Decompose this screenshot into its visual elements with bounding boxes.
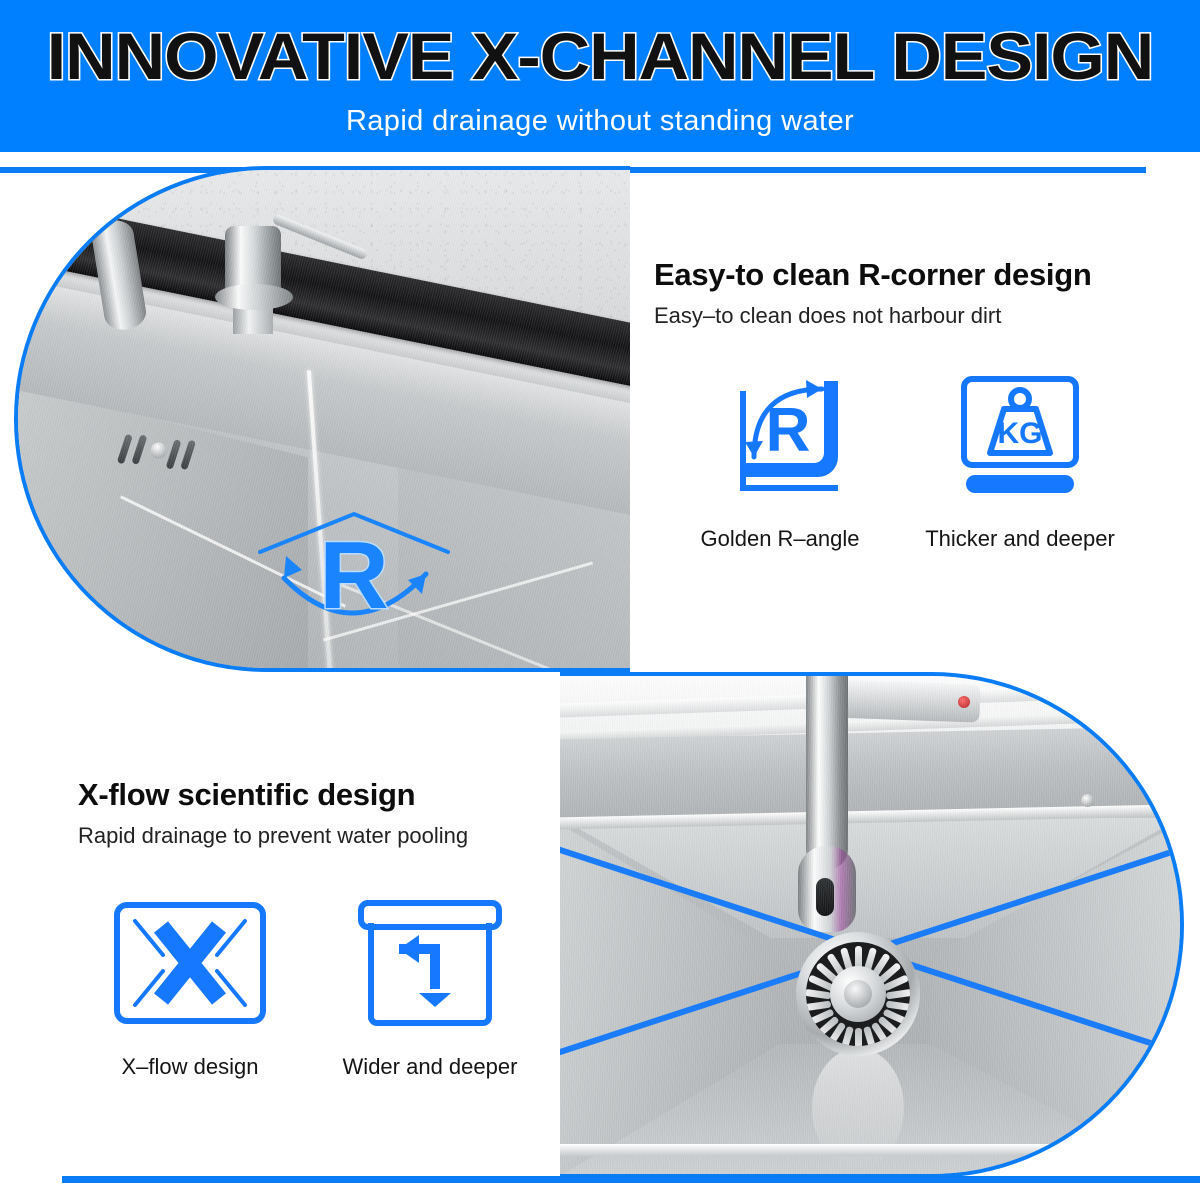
feature-x-flow-design: X–flow design xyxy=(70,888,310,1080)
kg-weight-icon: KG xyxy=(950,360,1090,510)
x-channel-lines-icon xyxy=(560,676,1180,1174)
drain-slot xyxy=(806,989,831,1000)
r-corner-text-block: Easy-to clean R-corner design Easy–to cl… xyxy=(654,255,1194,331)
feature-wider-deeper: Wider and deeper xyxy=(310,888,550,1080)
r-letter: R xyxy=(319,522,388,629)
feature-caption: Thicker and deeper xyxy=(925,526,1115,552)
page-subtitle: Rapid drainage without standing water xyxy=(0,104,1200,138)
drain-slot xyxy=(855,1028,862,1046)
x-flow-icon xyxy=(105,888,275,1038)
svg-text:R: R xyxy=(766,396,811,465)
r-radius-arrows-icon: R xyxy=(254,500,454,670)
drain-knob xyxy=(844,980,872,1008)
sink-basin-drain-photo xyxy=(560,672,1184,1178)
page-title: INNOVATIVE X-CHANNEL DESIGN xyxy=(0,16,1200,96)
drain-slot xyxy=(885,989,910,1000)
svg-text:KG: KG xyxy=(998,417,1043,450)
wider-deeper-basin-icon xyxy=(345,888,515,1038)
photo-scene-top: R xyxy=(18,170,630,668)
r-corner-feature-row: R Golden R–angle KG Thicker and deeper xyxy=(660,360,1140,552)
golden-r-angle-icon: R xyxy=(710,360,850,510)
x-flow-text-block: X-flow scientific design Rapid drainage … xyxy=(78,775,578,851)
feature-caption: Golden R–angle xyxy=(700,526,859,552)
x-flow-feature-row: X–flow design Wider and deeper xyxy=(70,888,550,1080)
feature-caption: X–flow design xyxy=(122,1054,259,1080)
r-corner-subheading: Easy–to clean does not harbour dirt xyxy=(654,301,1194,331)
drain-strainer xyxy=(796,932,920,1056)
x-flow-subheading: Rapid drainage to prevent water pooling xyxy=(78,821,578,851)
feature-golden-r-angle: R Golden R–angle xyxy=(660,360,900,552)
header-banner: INNOVATIVE X-CHANNEL DESIGN Rapid draina… xyxy=(0,0,1200,152)
r-corner-heading: Easy-to clean R-corner design xyxy=(654,255,1194,295)
sink-corner-photo: R xyxy=(14,166,630,672)
feature-thicker-deeper: KG Thicker and deeper xyxy=(900,360,1140,552)
x-flow-heading: X-flow scientific design xyxy=(78,775,578,815)
basin-bottom-rim xyxy=(560,1144,1180,1156)
feature-caption: Wider and deeper xyxy=(343,1054,518,1080)
